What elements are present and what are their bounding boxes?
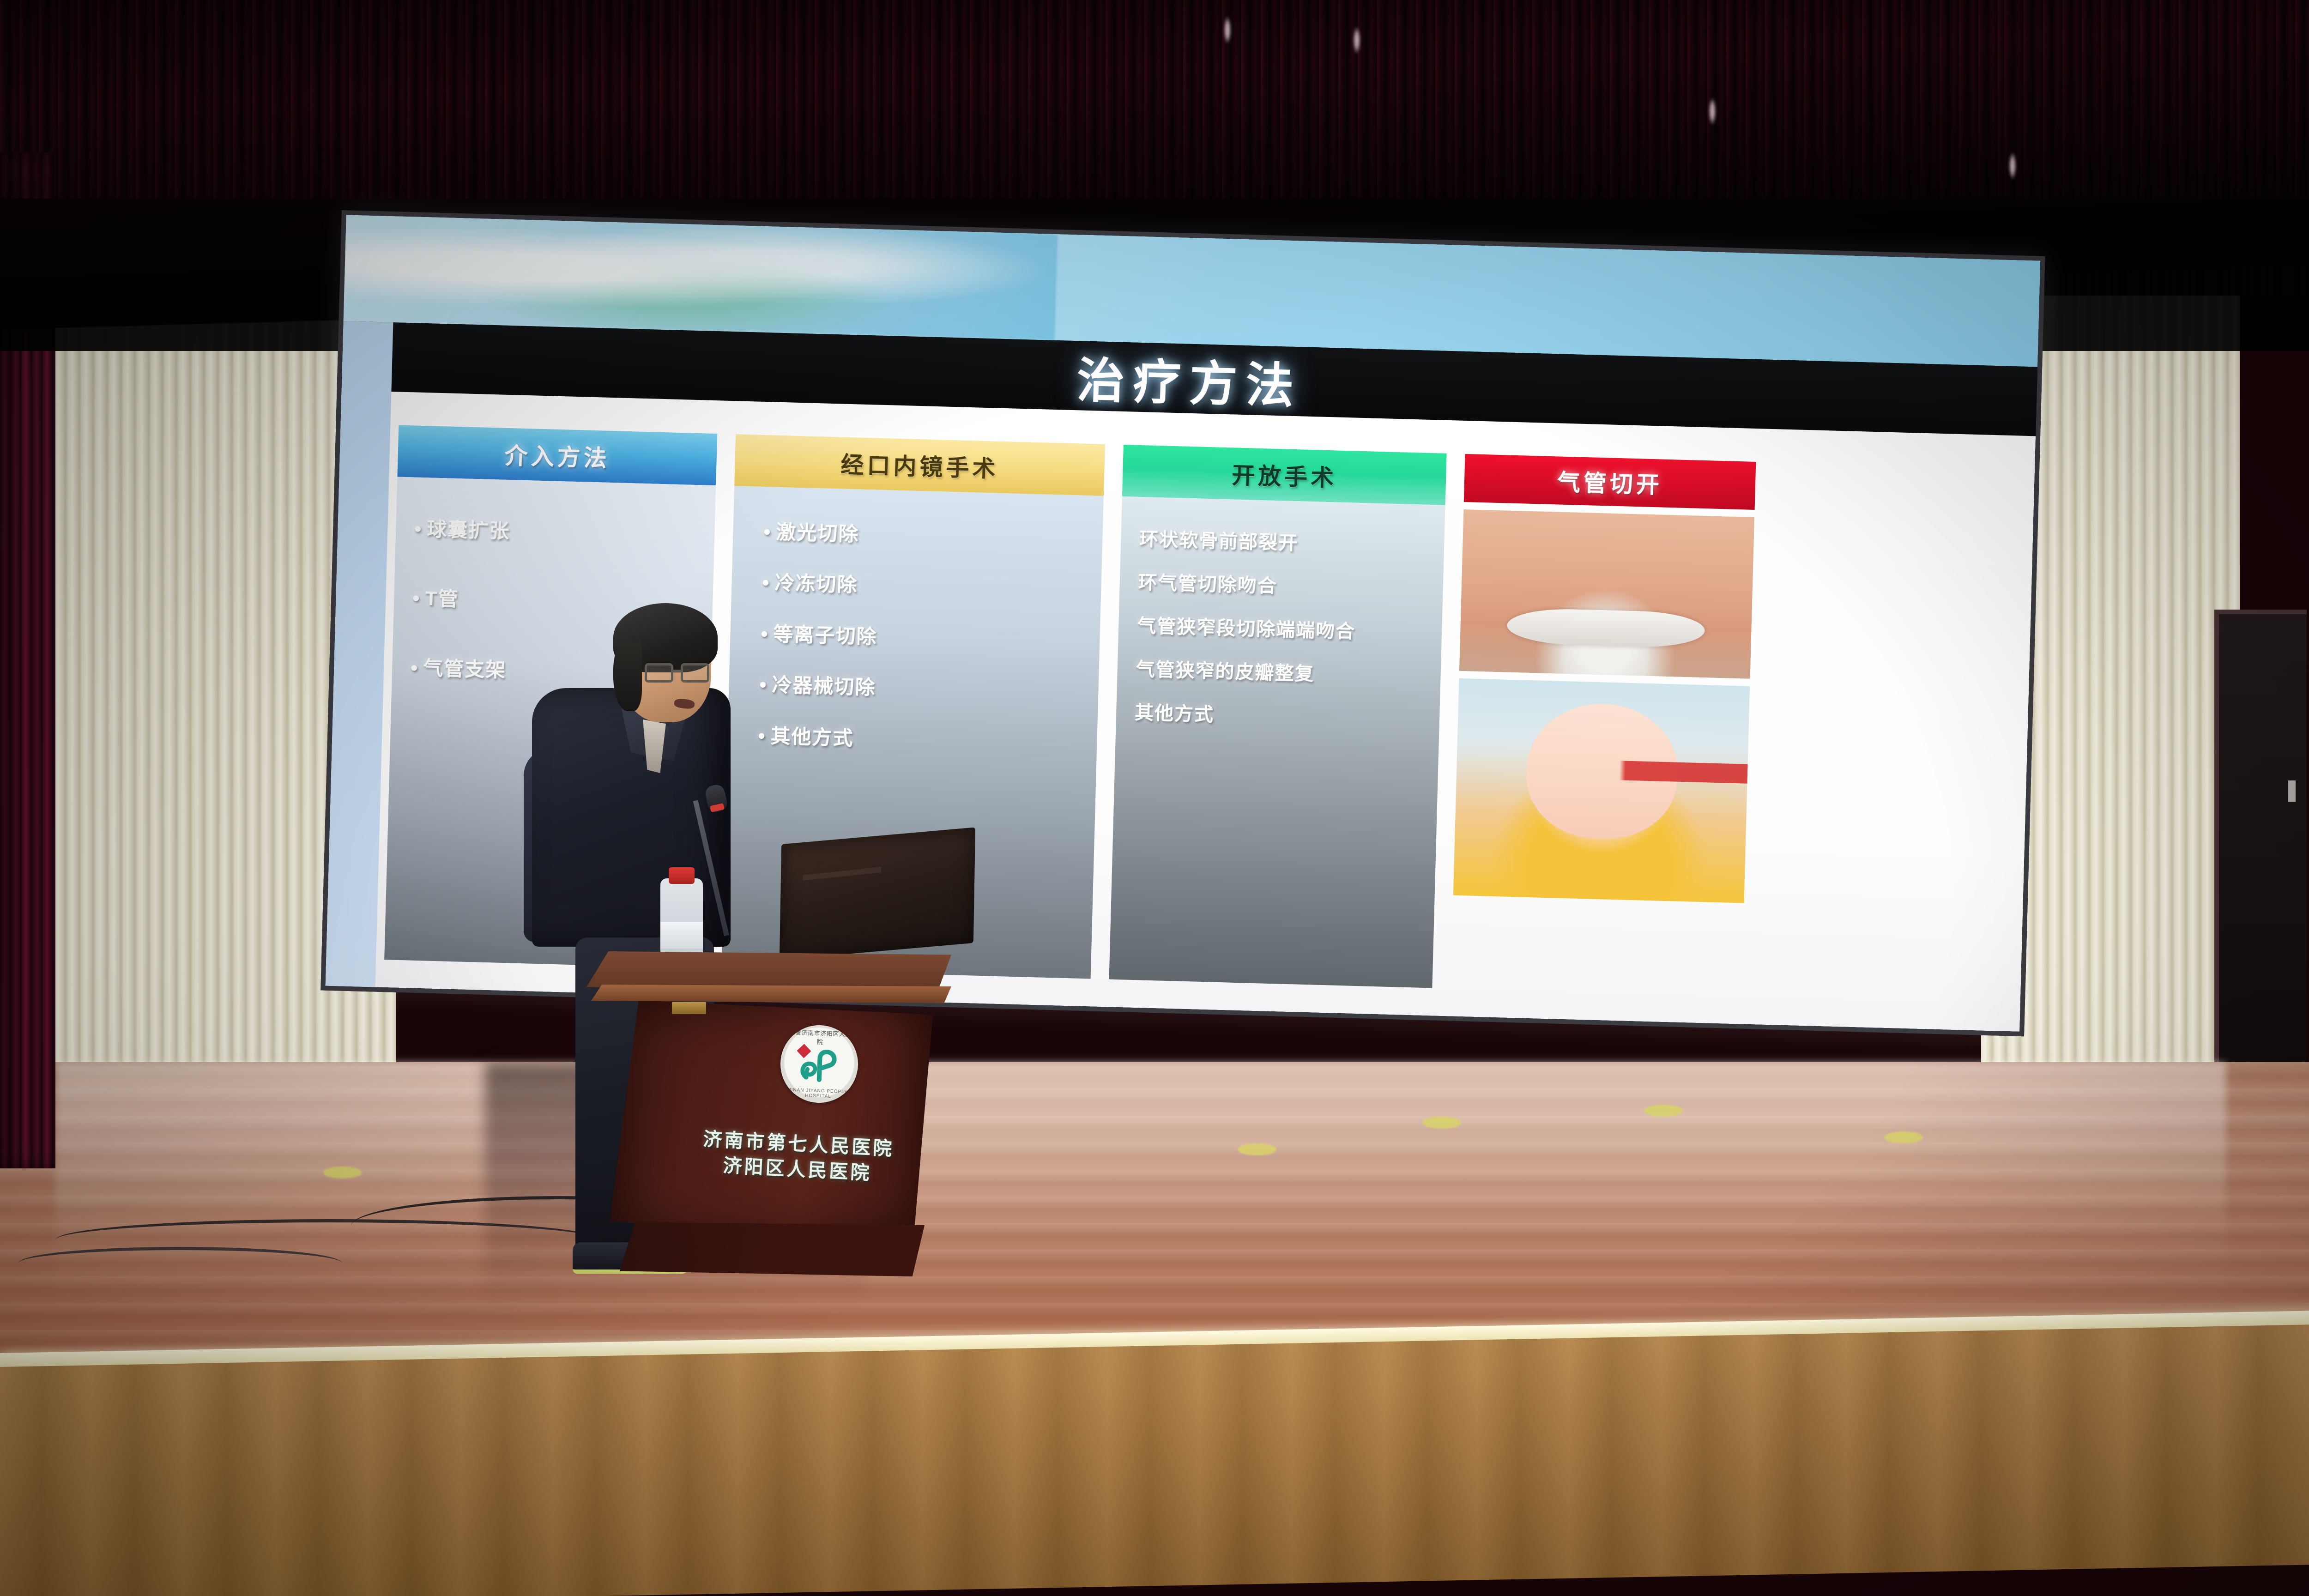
column-header: 气管切开 <box>1464 454 1756 510</box>
column-body <box>1451 502 1754 997</box>
floor-marker <box>1884 1131 1923 1143</box>
bullet-item: 激光切除 <box>763 520 859 547</box>
floor-marker <box>1644 1105 1683 1117</box>
tracheostomy-child-photo <box>1453 678 1750 903</box>
column-header: 经口内镜手术 <box>734 434 1105 496</box>
presenter-sideburn <box>613 642 642 711</box>
curtain-light-glint <box>1224 17 1231 43</box>
bullet-item: 环气管切除吻合 <box>1138 571 1397 601</box>
door-handle <box>2288 780 2296 802</box>
eyeglass-lens-right <box>681 663 709 683</box>
eyeglass-lens-left <box>645 663 673 683</box>
laptop-screen[interactable] <box>780 827 975 960</box>
presenter-and-podium: 山东省济南市济阳区人民医院 JINAN JIYANG PEOPLE HOSPIT… <box>522 596 947 1298</box>
slide-column-tracheotomy: 气管切开 <box>1451 454 1756 997</box>
bullet-item: 气管狭窄的皮瓣整复 <box>1136 658 1395 688</box>
floor-marker <box>1422 1117 1461 1129</box>
stage-front-panel <box>0 1323 2309 1596</box>
bullet-item: 环状软骨前部裂开 <box>1139 527 1398 557</box>
floor-marker <box>323 1167 362 1179</box>
bullet-item: 球囊扩张 <box>414 517 699 549</box>
water-bottle-label <box>660 922 703 949</box>
curtain-light-glint <box>1353 27 1360 54</box>
auditorium-scene: 治疗方法 介入方法 球囊扩张 T管 气管支架 <box>0 0 2309 1596</box>
eyeglasses-icon <box>645 663 713 684</box>
floor-light-reflection <box>55 1062 2226 1312</box>
curtain-light-glint <box>1709 98 1716 125</box>
hospital-logo: 山东省济南市济阳区人民医院 JINAN JIYANG PEOPLE HOSPIT… <box>779 1024 859 1104</box>
podium-front-panel <box>610 1000 933 1240</box>
bullet-item: 气管狭窄段切除端端吻合 <box>1137 614 1396 644</box>
banner-surgery-photo <box>344 215 1058 340</box>
logo-arc-top-text: 山东省济南市济阳区人民医院 <box>781 1027 859 1047</box>
slide-column-open-surgery: 开放手术 环状软骨前部裂开 环气管切除吻合 气管狭窄段切除端端吻合 气管狭窄的皮… <box>1109 445 1447 988</box>
column-header: 介入方法 <box>397 425 717 486</box>
podium-base <box>620 1222 925 1276</box>
curtain-light-glint <box>2009 152 2016 179</box>
stage-right-doorway <box>2214 610 2307 1076</box>
bullet-item: 冷冻切除 <box>762 571 858 598</box>
tracheostomy-neck-photo <box>1459 509 1754 679</box>
water-bottle-cap <box>669 867 695 884</box>
podium-nameplate <box>672 1002 706 1014</box>
floor-marker <box>1238 1143 1276 1155</box>
column-header: 开放手术 <box>1122 445 1447 505</box>
floor-cable <box>18 1247 342 1279</box>
column-body: 环状软骨前部裂开 环气管切除吻合 气管狭窄段切除端端吻合 气管狭窄的皮瓣整复 其… <box>1109 496 1445 988</box>
podium-lip <box>591 985 951 1003</box>
bullet-item: 其他方式 <box>1135 701 1394 731</box>
slide-title: 治疗方法 <box>1076 341 1303 417</box>
